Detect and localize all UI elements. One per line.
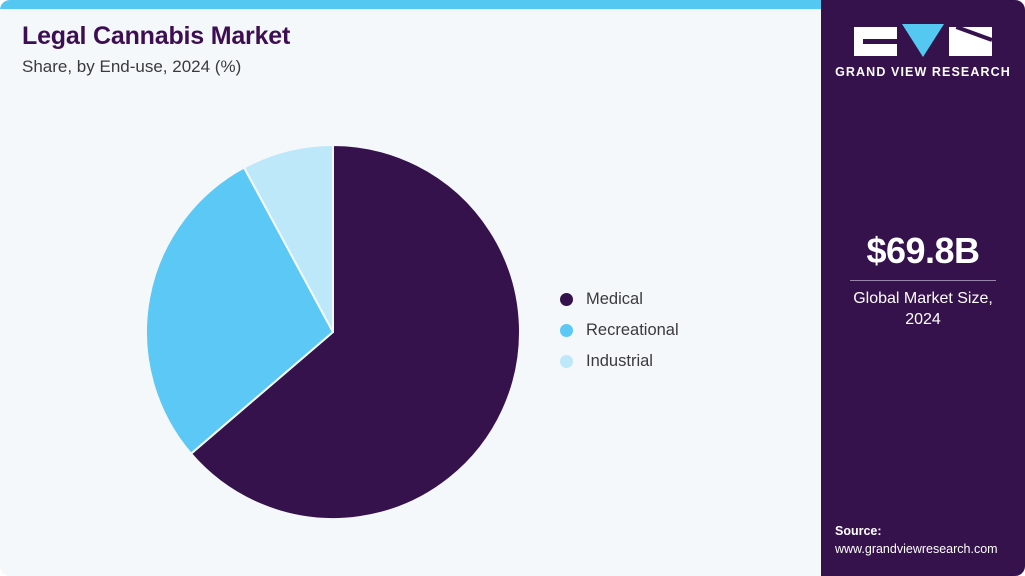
title-block: Legal Cannabis Market Share, by End-use,… [22, 22, 722, 77]
legend-item-recreational[interactable]: Recreational [560, 315, 790, 346]
logo-marks [821, 26, 1025, 56]
legend-swatch-recreational [560, 324, 573, 337]
stat-caption: Global Market Size, 2024 [821, 289, 1025, 331]
legend-item-industrial[interactable]: Industrial [560, 346, 790, 377]
legend-swatch-industrial [560, 355, 573, 368]
chart-panel: Legal Cannabis Market Share, by End-use,… [0, 0, 821, 576]
page-title: Legal Cannabis Market [22, 22, 722, 51]
pie-chart-svg [146, 145, 520, 519]
source-label: Source: [835, 523, 1025, 541]
pie-slice-group [146, 145, 520, 519]
logo-g-icon [854, 27, 897, 56]
brand-name: GRAND VIEW RESEARCH [821, 65, 1025, 79]
legend-label-industrial: Industrial [586, 352, 653, 371]
brand-logo: GRAND VIEW RESEARCH [821, 26, 1025, 79]
brand-panel: GRAND VIEW RESEARCH $69.8B Global Market… [821, 0, 1025, 576]
source-block: Source: www.grandviewresearch.com [835, 523, 1025, 558]
stat-divider [850, 280, 996, 281]
top-accent-bar [0, 0, 821, 9]
pie-chart [146, 145, 520, 519]
logo-r-icon [949, 27, 992, 56]
chart-legend: Medical Recreational Industrial [560, 284, 790, 377]
page-subtitle: Share, by End-use, 2024 (%) [22, 57, 722, 77]
legend-swatch-medical [560, 293, 573, 306]
legend-label-medical: Medical [586, 290, 643, 309]
stat-value: $69.8B [821, 232, 1025, 270]
source-url[interactable]: www.grandviewresearch.com [835, 541, 1025, 559]
infographic-card: Legal Cannabis Market Share, by End-use,… [0, 0, 1025, 576]
legend-item-medical[interactable]: Medical [560, 284, 790, 315]
legend-label-recreational: Recreational [586, 321, 679, 340]
logo-v-triangle-icon [902, 24, 944, 57]
market-size-stat: $69.8B Global Market Size, 2024 [821, 232, 1025, 330]
